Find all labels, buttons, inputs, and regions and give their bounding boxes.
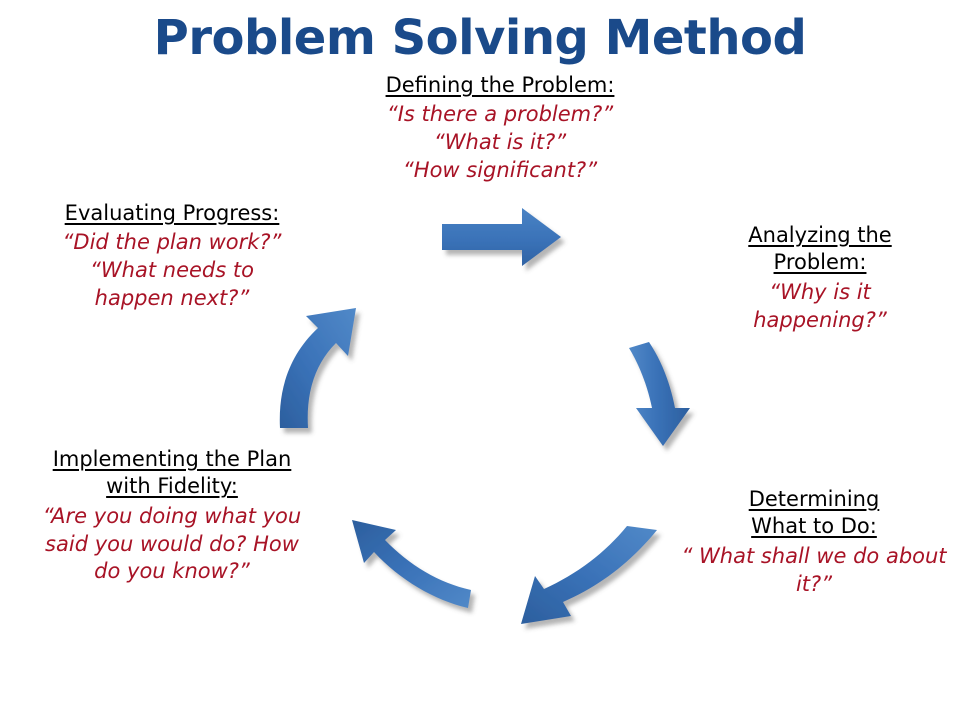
heading-line: Problem:	[774, 250, 867, 274]
quote-line: it?”	[668, 571, 960, 599]
heading-line: Evaluating Progress:	[65, 201, 280, 225]
quote-line: “ What shall we do about	[668, 543, 960, 571]
stage-quotes-defining-the-problem: “Is there a problem?” “What is it?” “How…	[330, 101, 670, 185]
stage-quotes-analyzing-the-problem: “Why is it happening?”	[690, 279, 950, 335]
problem-solving-method-diagram: Problem Solving Method Defining the Prob…	[0, 0, 960, 720]
stage-heading-analyzing-the-problem: Analyzing the Problem:	[690, 222, 950, 277]
quote-line: said you would do? How	[4, 531, 340, 559]
quote-line: happening?”	[690, 307, 950, 335]
heading-line: Analyzing the	[748, 223, 891, 247]
stage-quotes-determining-what-to-do: “ What shall we do about it?”	[668, 543, 960, 599]
quote-line: do you know?”	[4, 558, 340, 586]
heading-line: Determining	[749, 487, 880, 511]
heading-line: Defining the Problem:	[386, 73, 615, 97]
stage-analyzing-the-problem: Analyzing the Problem: “Why is it happen…	[690, 222, 950, 334]
curved-down-left-arrow-icon	[505, 528, 690, 643]
quote-line: “What needs to	[14, 257, 330, 285]
heading-line: Implementing the Plan	[53, 447, 292, 471]
curved-up-arrow-icon	[268, 292, 388, 444]
curved-down-arrow-icon	[618, 342, 748, 462]
right-arrow-icon	[440, 206, 580, 286]
stage-heading-implementing-the-plan: Implementing the Plan with Fidelity:	[4, 446, 340, 501]
stage-heading-determining-what-to-do: Determining What to Do:	[668, 486, 960, 541]
heading-line: with Fidelity:	[106, 474, 238, 498]
stage-heading-defining-the-problem: Defining the Problem:	[330, 72, 670, 99]
quote-line: “How significant?”	[330, 157, 670, 185]
stage-heading-evaluating-progress: Evaluating Progress:	[14, 200, 330, 227]
page-title: Problem Solving Method	[0, 12, 960, 65]
quote-line: “What is it?”	[330, 129, 670, 157]
heading-line: What to Do:	[751, 514, 877, 538]
stage-determining-what-to-do: Determining What to Do: “ What shall we …	[668, 486, 960, 598]
quote-line: “Are you doing what you	[4, 503, 340, 531]
stage-defining-the-problem: Defining the Problem: “Is there a proble…	[330, 72, 670, 185]
stage-implementing-the-plan: Implementing the Plan with Fidelity: “Ar…	[4, 446, 340, 586]
stage-quotes-implementing-the-plan: “Are you doing what you said you would d…	[4, 503, 340, 587]
quote-line: “Why is it	[690, 279, 950, 307]
quote-line: “Is there a problem?”	[330, 101, 670, 129]
curved-up-left-arrow-icon	[322, 518, 472, 628]
quote-line: “Did the plan work?”	[14, 229, 330, 257]
